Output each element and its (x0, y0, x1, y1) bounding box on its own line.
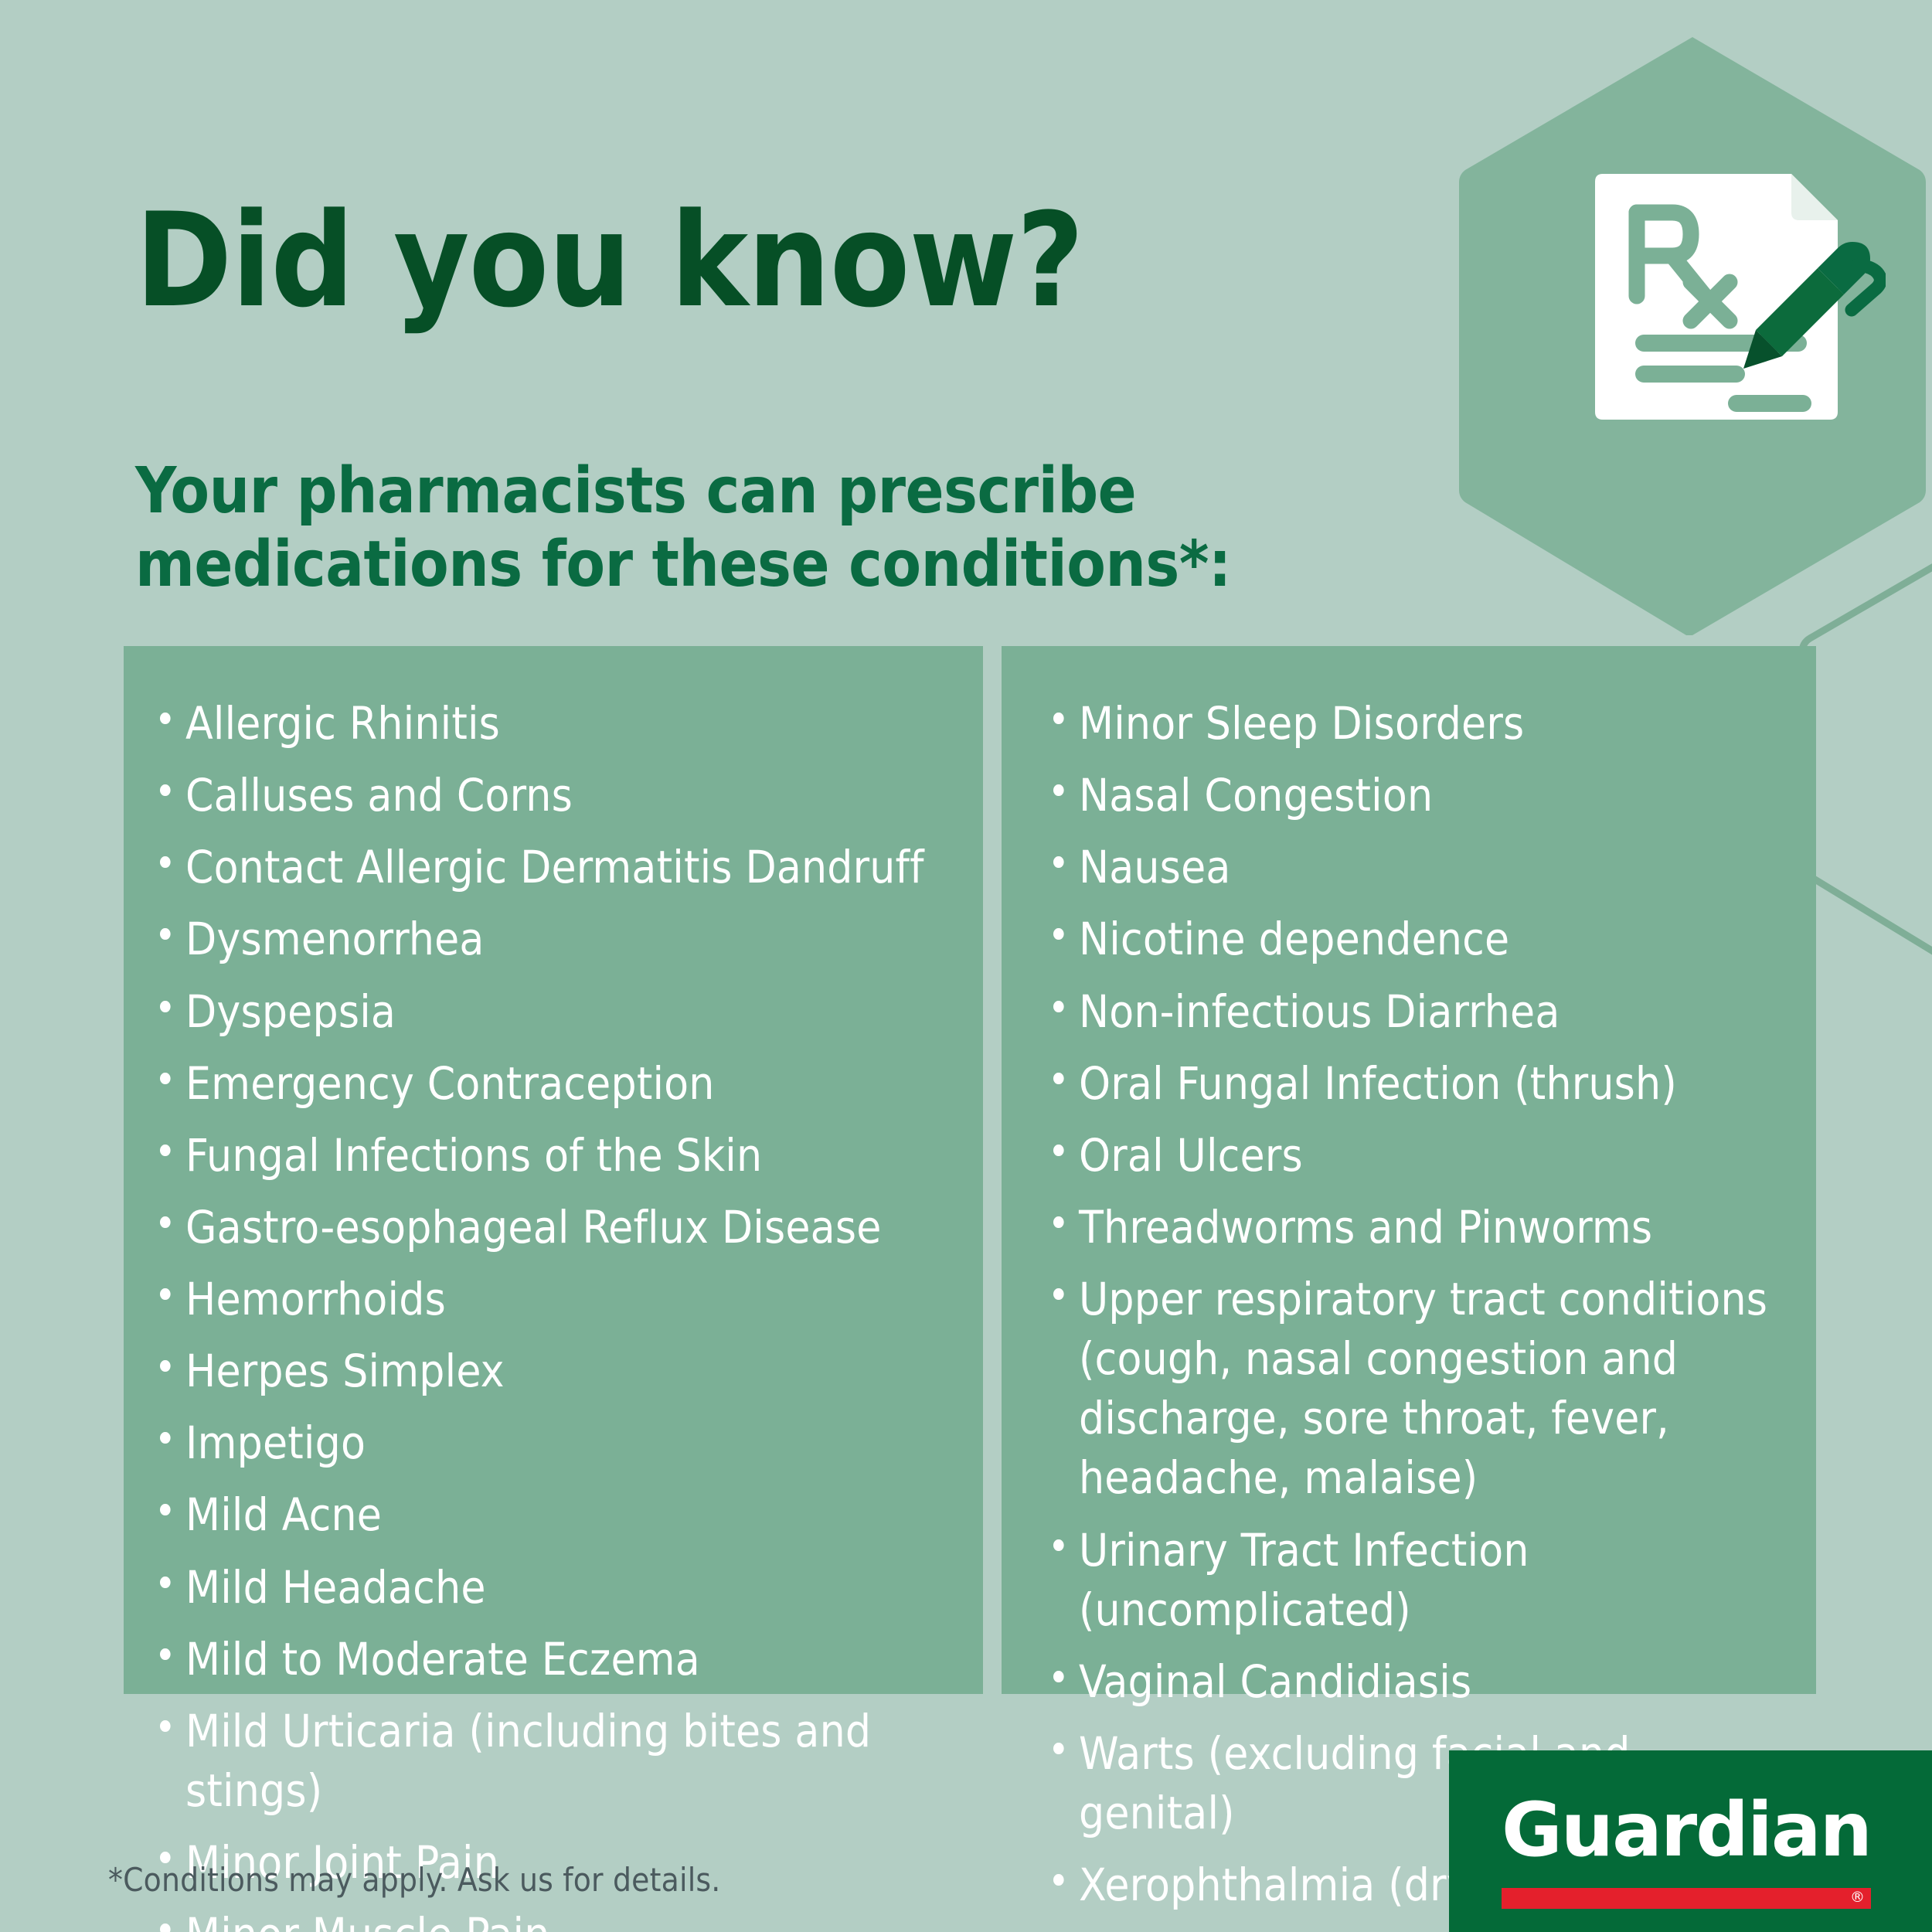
conditions-list-left: Allergic RhinitisCalluses and CornsConta… (155, 694, 952, 1932)
conditions-list-right: Minor Sleep DisordersNasal CongestionNau… (1048, 694, 1785, 1915)
condition-list-item: Nasal Congestion (1048, 766, 1785, 825)
page-title: Did you know? (135, 196, 1083, 325)
condition-list-item: Nicotine dependence (1048, 910, 1785, 969)
page-subtitle-line-2: medications for these conditions*: (135, 528, 1231, 601)
condition-list-item: Fungal Infections of the Skin (155, 1126, 952, 1185)
guardian-logo-rule: ® (1502, 1888, 1871, 1909)
condition-list-item: Mild to Moderate Eczema (155, 1630, 952, 1689)
condition-list-item: Nausea (1048, 838, 1785, 897)
conditions-panel-left: Allergic RhinitisCalluses and CornsConta… (124, 646, 983, 1694)
condition-list-item: Impetigo (155, 1413, 952, 1473)
condition-list-item: Hemorrhoids (155, 1270, 952, 1329)
condition-list-item: Non-infectious Diarrhea (1048, 982, 1785, 1042)
condition-list-item: Gastro-esophageal Reflux Disease (155, 1198, 952, 1257)
condition-list-item: Allergic Rhinitis (155, 694, 952, 753)
condition-list-item: Contact Allergic Dermatitis Dandruff (155, 838, 952, 897)
condition-list-item: Minor Muscle Pain (155, 1905, 952, 1932)
condition-list-item: Oral Fungal Infection (thrush) (1048, 1054, 1785, 1114)
condition-list-item: Threadworms and Pinworms (1048, 1198, 1785, 1257)
condition-list-item: Calluses and Corns (155, 766, 952, 825)
guardian-wordmark: Guardian (1502, 1793, 1871, 1867)
infographic-poster: Did you know? Your pharmacists can presc… (0, 0, 1932, 1932)
condition-list-item: Emergency Contraception (155, 1054, 952, 1114)
conditions-panel-right: Minor Sleep DisordersNasal CongestionNau… (1002, 646, 1816, 1694)
condition-list-item: Herpes Simplex (155, 1342, 952, 1401)
condition-list-item: Vaginal Candidiasis (1048, 1652, 1785, 1712)
guardian-logo: Guardian ® (1449, 1750, 1932, 1932)
condition-list-item: Dyspepsia (155, 982, 952, 1042)
condition-list-item: Dysmenorrhea (155, 910, 952, 969)
condition-list-item: Mild Headache (155, 1558, 952, 1617)
page-subtitle: Your pharmacists can prescribe medicatio… (135, 454, 1231, 601)
condition-list-item: Mild Acne (155, 1485, 952, 1545)
condition-list-item: Mild Urticaria (including bites and stin… (155, 1702, 952, 1821)
condition-list-item: Upper respiratory tract conditions (coug… (1048, 1270, 1785, 1509)
condition-list-item: Oral Ulcers (1048, 1126, 1785, 1185)
rx-prescription-icon (1592, 166, 1886, 429)
conditions-panels: Allergic RhinitisCalluses and CornsConta… (124, 646, 1816, 1694)
page-subtitle-line-1: Your pharmacists can prescribe (135, 454, 1231, 528)
footnote-text: *Conditions may apply. Ask us for detail… (108, 1861, 720, 1899)
condition-list-item: Minor Sleep Disorders (1048, 694, 1785, 753)
registered-trademark-icon: ® (1850, 1890, 1865, 1905)
condition-list-item: Urinary Tract Infection (uncomplicated) (1048, 1521, 1785, 1640)
